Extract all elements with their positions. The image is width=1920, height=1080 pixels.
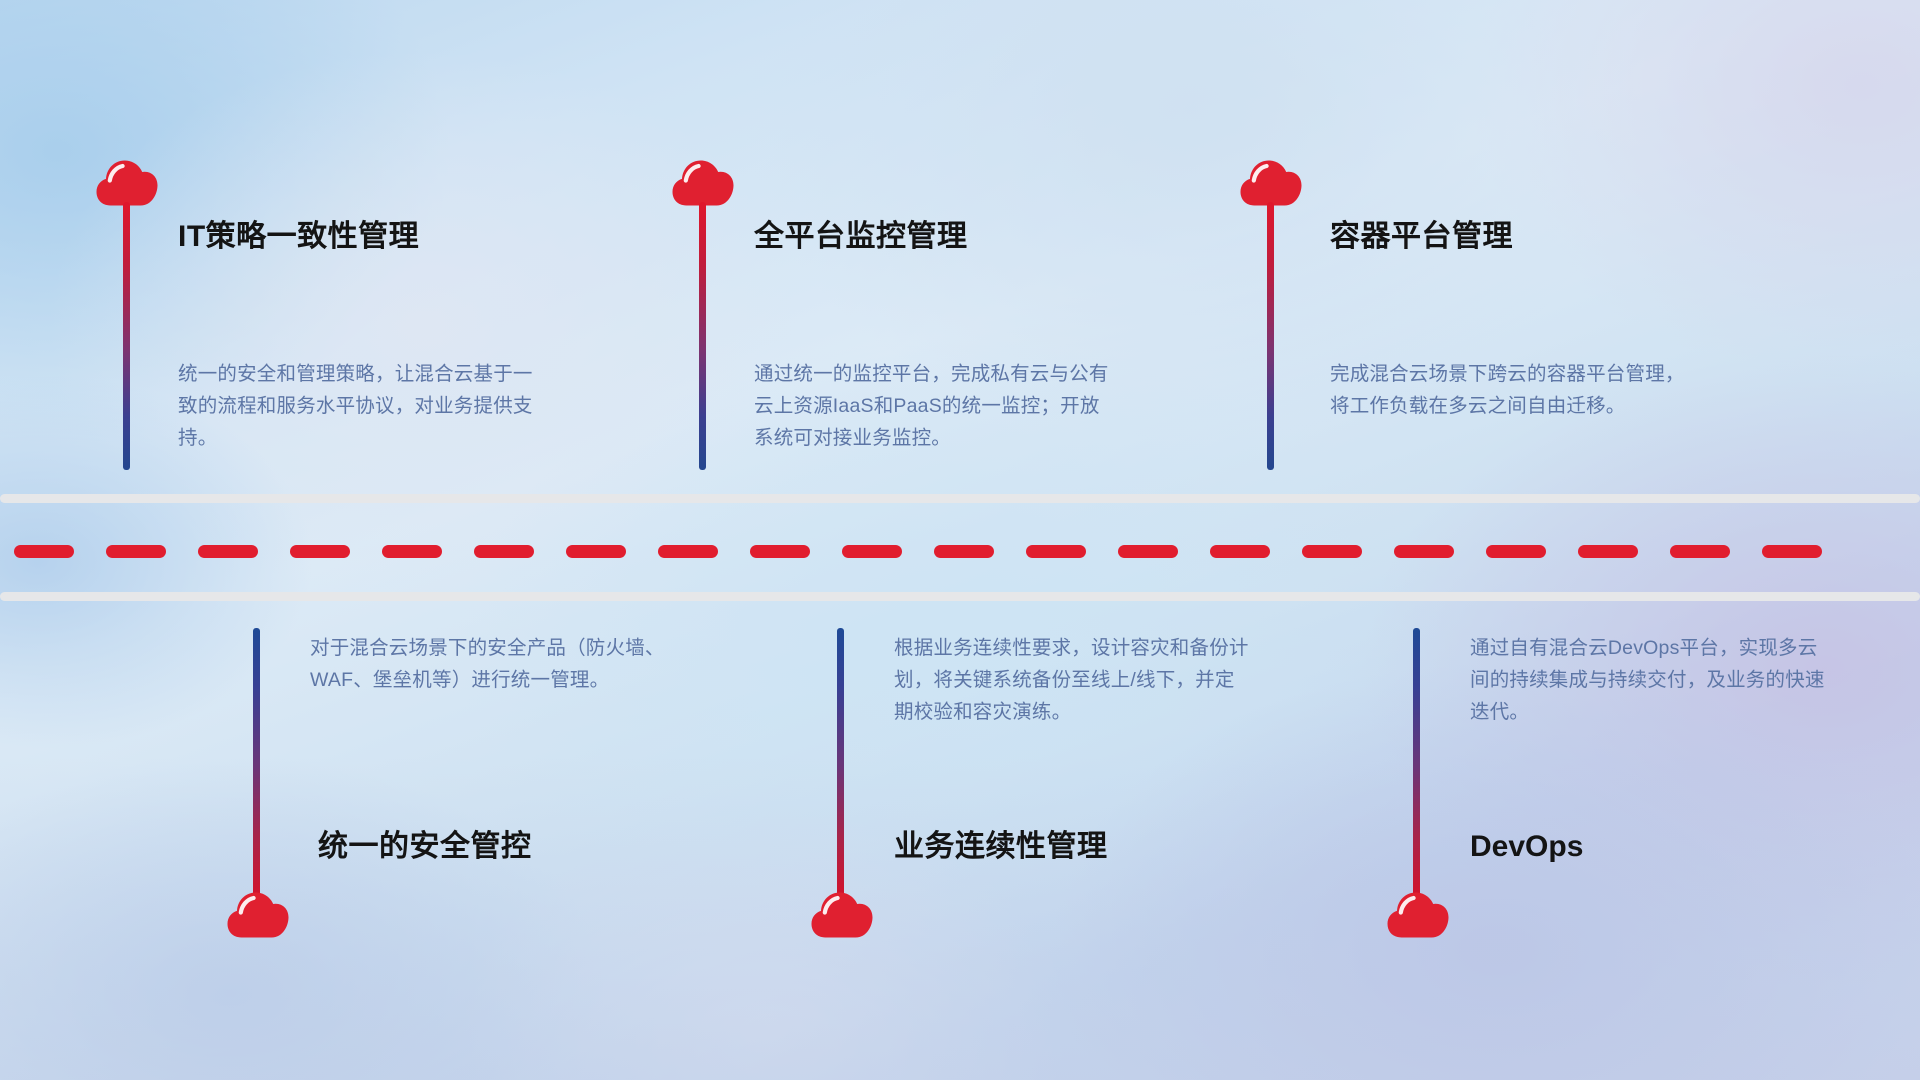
cloud-glyph [96,160,158,206]
divider-dash [750,545,810,558]
pin-stem-bottom-3 [1413,628,1420,896]
divider-dash [474,545,534,558]
divider-dash [290,545,350,558]
divider-dash [1026,545,1086,558]
cloud-glyph [672,160,734,206]
cloud-glyph [811,892,873,938]
item-body-devops: 通过自有混合云DevOps平台，实现多云间的持续集成与持续交付，及业务的快速迭代… [1470,632,1825,728]
divider-dash [1486,545,1546,558]
item-title-container-platform: 容器平台管理 [1330,222,1513,252]
cloud-icon-bottom-2 [811,892,873,938]
pin-stem-top-2 [699,202,706,470]
item-body-it-policy-consistency: 统一的安全和管理策略，让混合云基于一致的流程和服务水平协议，对业务提供支持。 [178,358,533,454]
divider-dash [14,545,74,558]
divider-rail-top [0,494,1920,503]
pin-stem-bottom-1 [253,628,260,896]
item-title-it-policy-consistency: IT策略一致性管理 [178,222,419,252]
cloud-glyph [1387,892,1449,938]
divider-dash [1210,545,1270,558]
item-body-business-continuity: 根据业务连续性要求，设计容灾和备份计划，将关键系统备份至线上/线下，并定期校验和… [894,632,1249,728]
divider-rail-bottom [0,592,1920,601]
divider-dash [1762,545,1822,558]
cloud-icon-top-2 [672,160,734,206]
divider-dash [1394,545,1454,558]
cloud-icon-bottom-1 [227,892,289,938]
divider-dash [842,545,902,558]
cloud-icon-top-1 [96,160,158,206]
divider-dash [106,545,166,558]
divider-dash [1578,545,1638,558]
divider-dash [658,545,718,558]
item-body-container-platform: 完成混合云场景下跨云的容器平台管理，将工作负载在多云之间自由迁移。 [1330,358,1685,422]
item-body-full-platform-monitoring: 通过统一的监控平台，完成私有云与公有云上资源IaaS和PaaS的统一监控；开放系… [754,358,1109,454]
item-title-business-continuity: 业务连续性管理 [894,832,1108,862]
cloud-icon-top-3 [1240,160,1302,206]
divider-dash [198,545,258,558]
divider-dash [566,545,626,558]
divider-dash [1302,545,1362,558]
cloud-icon-bottom-3 [1387,892,1449,938]
divider-dash [1118,545,1178,558]
item-body-unified-security-control: 对于混合云场景下的安全产品（防火墙、WAF、堡垒机等）进行统一管理。 [310,632,665,696]
item-title-unified-security-control: 统一的安全管控 [318,832,532,862]
cloud-glyph [227,892,289,938]
pin-stem-top-1 [123,202,130,470]
item-title-devops: DevOps [1470,832,1583,862]
divider-dash [1670,545,1730,558]
pin-stem-top-3 [1267,202,1274,470]
cloud-glyph [1240,160,1302,206]
item-title-full-platform-monitoring: 全平台监控管理 [754,222,968,252]
pin-stem-bottom-2 [837,628,844,896]
divider-dash [934,545,994,558]
divider-dashed-line [0,545,1920,558]
divider-dash [382,545,442,558]
